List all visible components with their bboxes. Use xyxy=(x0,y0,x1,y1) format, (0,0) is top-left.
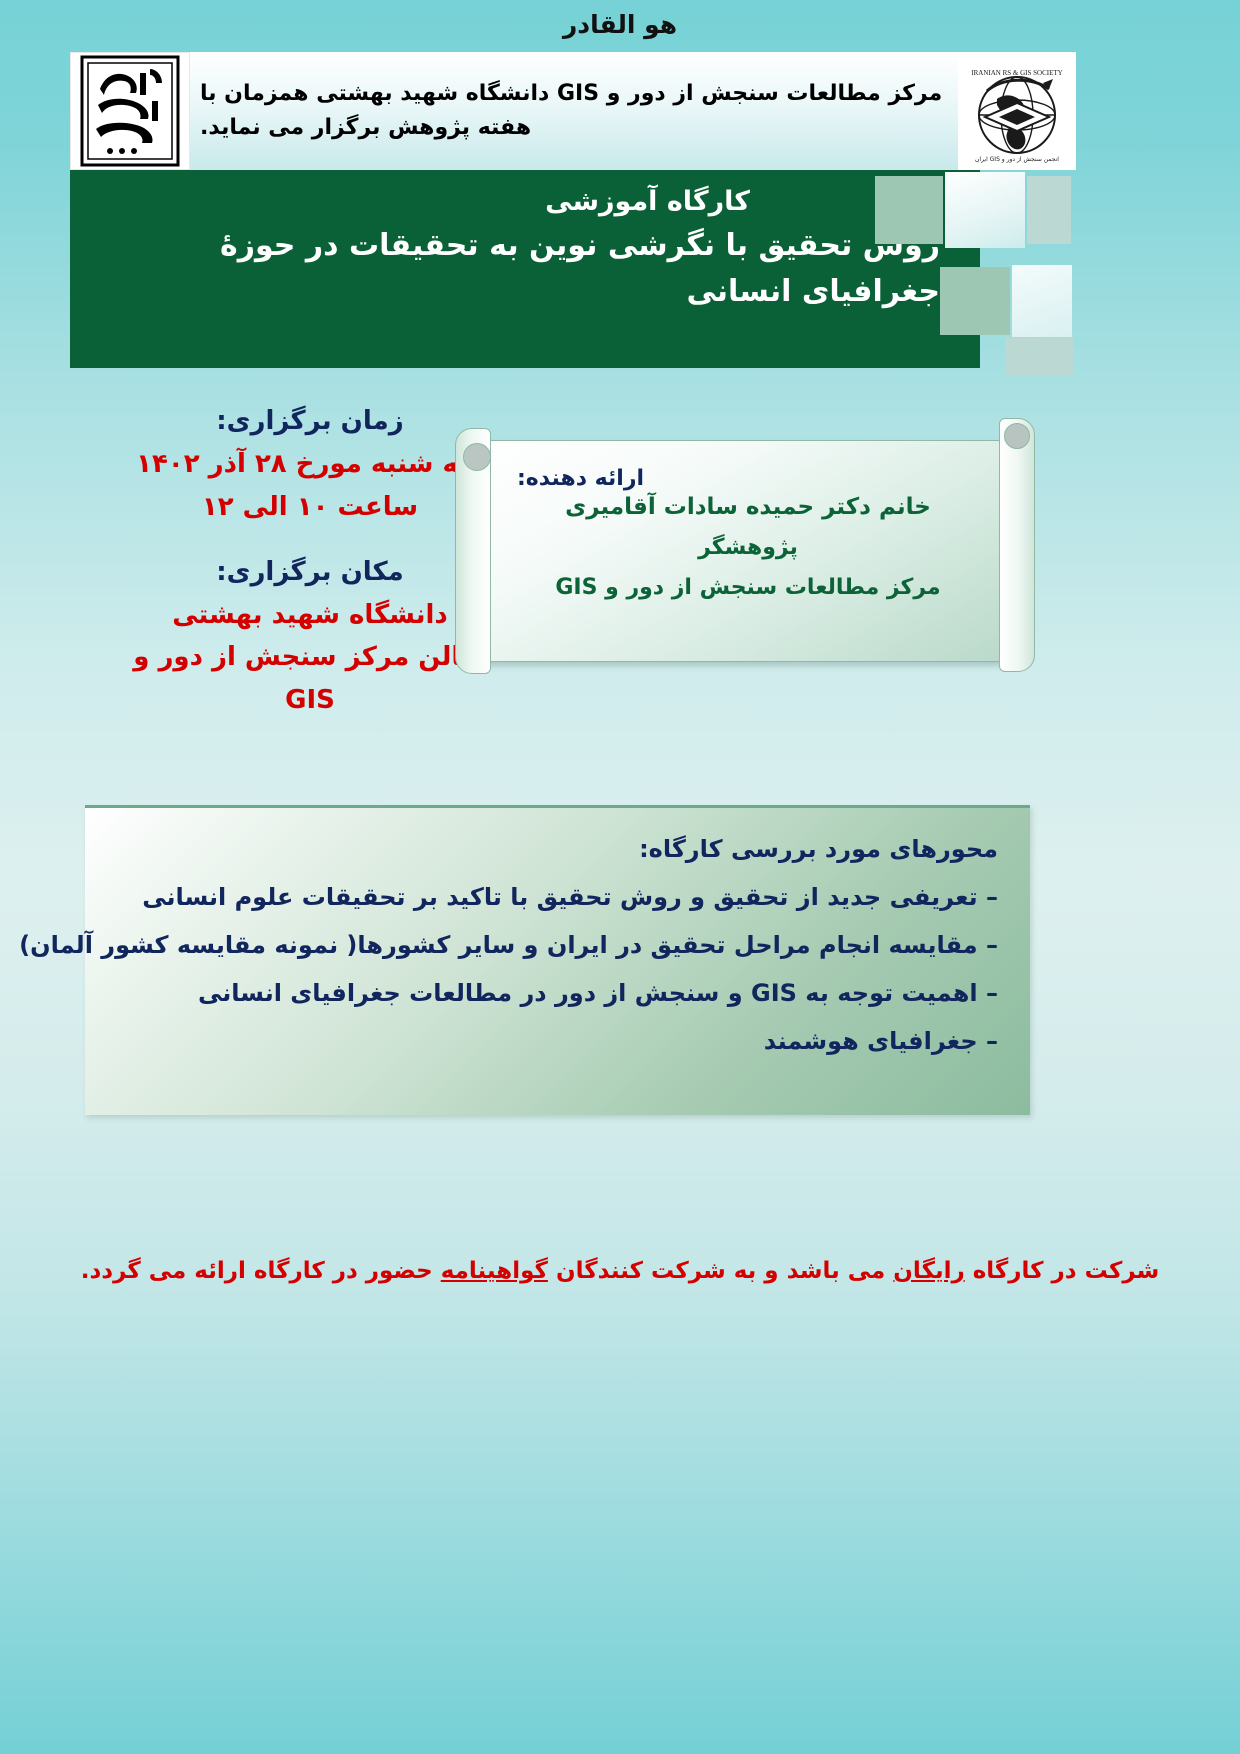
invocation-text: هو القادر xyxy=(0,0,1240,39)
topic-item-1: – تعریفی جدید از تحقیق و روش تحقیق با تا… xyxy=(109,873,998,921)
place-line-1: دانشگاه شهید بهشتی xyxy=(120,594,500,637)
topic-item-3: – اهمیت توجه به GIS و سنجش از دور در مطا… xyxy=(109,969,998,1017)
time-date: سه شنبه مورخ ۲۸ آذر ۱۴۰۲ xyxy=(120,443,500,486)
banner-title-line-2: جغرافیای انسانی xyxy=(70,269,940,316)
footer-part-3: حضور در کارگاه ارائه می گردد. xyxy=(81,1258,441,1284)
time-hours: ساعت ۱۰ الی ۱۲ xyxy=(120,486,500,529)
header-text-block: مرکز مطالعات سنجش از دور و GIS دانشگاه ش… xyxy=(190,52,958,170)
rs-gis-society-globe-logo: IRANIAN RS & GIS SOCIETY انجمن سنجش از د… xyxy=(958,52,1076,170)
details-spacer xyxy=(120,529,500,551)
scroll-knob-left-icon xyxy=(463,443,491,471)
header-line-2: هفته پژوهش برگزار می نماید. xyxy=(200,111,531,145)
decor-square-6 xyxy=(1005,338,1073,376)
place-label: مکان برگزاری: xyxy=(120,551,500,594)
time-label: زمان برگزاری: xyxy=(120,400,500,443)
header-band: مرکز مطالعات سنجش از دور و GIS دانشگاه ش… xyxy=(70,52,1050,170)
footer-note: شرکت در کارگاه رایگان می باشد و به شرکت … xyxy=(0,1258,1240,1284)
banner-title-line-1: روش تحقیق با نگرشی نوین به تحقیقات در حو… xyxy=(70,223,940,270)
topic-item-4: – جغرافیای هوشمند xyxy=(109,1017,998,1065)
presenter-org: مرکز مطالعات سنجش از دور و GIS xyxy=(511,568,985,608)
decor-square-4 xyxy=(940,267,1010,335)
svg-text:IRANIAN RS & GIS SOCIETY: IRANIAN RS & GIS SOCIETY xyxy=(972,69,1063,77)
footer-part-1: شرکت در کارگاه xyxy=(965,1258,1160,1284)
topic-item-2: – مقایسه انجام مراحل تحقیق در ایران و سا… xyxy=(109,921,998,969)
workshop-title-banner: کارگاه آموزشی روش تحقیق با نگرشی نوین به… xyxy=(70,170,980,368)
svg-text:انجمن سنجش از دور و GIS ایران: انجمن سنجش از دور و GIS ایران xyxy=(975,156,1059,163)
topics-heading: محورهای مورد بررسی کارگاه: xyxy=(109,826,998,873)
decor-square-2 xyxy=(945,172,1025,248)
footer-free-word: رایگان xyxy=(893,1258,964,1284)
presenter-content: ارائه دهنده: خانم دکتر حمیده سادات آقامی… xyxy=(511,466,985,608)
scroll-knob-right-icon xyxy=(1004,423,1030,449)
presenter-name: خانم دکتر حمیده سادات آقامیری xyxy=(511,487,985,528)
decor-square-5 xyxy=(1012,265,1072,337)
place-line-2: سالن مرکز سنجش از دور و GIS xyxy=(120,636,500,722)
scroll-roll-left xyxy=(455,428,491,674)
presenter-role: پژوهشگر xyxy=(511,528,985,568)
decor-square-3 xyxy=(1027,176,1071,244)
footer-certificate-word: گواهینامه xyxy=(441,1258,548,1284)
banner-kicker: کارگاه آموزشی xyxy=(70,182,940,223)
presenter-scroll: ارائه دهنده: خانم دکتر حمیده سادات آقامی… xyxy=(455,418,1025,680)
header-line-1: مرکز مطالعات سنجش از دور و GIS دانشگاه ش… xyxy=(200,77,942,111)
event-details: زمان برگزاری: سه شنبه مورخ ۲۸ آذر ۱۴۰۲ س… xyxy=(120,400,500,722)
scroll-roll-right xyxy=(999,418,1035,672)
topics-box: محورهای مورد بررسی کارگاه: – تعریفی جدید… xyxy=(85,805,1030,1115)
footer-part-2: می باشد و به شرکت کنندگان xyxy=(548,1258,893,1284)
shahid-beheshti-university-logo xyxy=(70,52,190,170)
decor-square-1 xyxy=(875,176,943,244)
